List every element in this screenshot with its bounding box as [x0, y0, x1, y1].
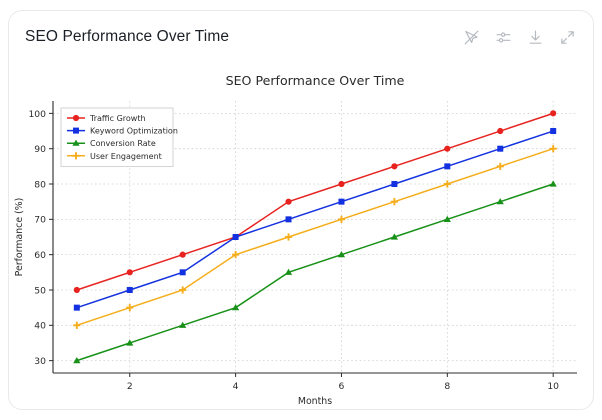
y-tick-label: 60 [34, 250, 46, 261]
line-chart: SEO Performance Over Time304050607080901… [9, 63, 595, 411]
download-icon[interactable] [525, 27, 545, 47]
series-4 [73, 145, 557, 329]
legend-item-label: Traffic Growth [89, 114, 146, 123]
x-tick-label: 10 [547, 381, 559, 392]
pointer-disabled-icon[interactable] [461, 27, 481, 47]
legend-item-label: Conversion Rate [90, 139, 156, 148]
chart-legend: Traffic GrowthKeyword OptimizationConver… [61, 108, 178, 166]
y-tick-label: 30 [34, 356, 46, 367]
series-3 [73, 180, 557, 363]
x-tick-label: 4 [233, 381, 239, 392]
x-tick-label: 6 [339, 381, 345, 392]
y-tick-label: 90 [34, 144, 46, 155]
x-axis-label: Months [298, 396, 332, 407]
chart-plot-area: SEO Performance Over Time304050607080901… [9, 63, 595, 411]
y-tick-label: 80 [34, 179, 46, 190]
legend-item-label: User Engagement [90, 152, 162, 161]
y-tick-label: 40 [34, 321, 46, 332]
expand-icon[interactable] [557, 27, 577, 47]
y-tick-label: 100 [28, 109, 46, 120]
y-tick-label: 70 [34, 215, 46, 226]
legend-item-label: Keyword Optimization [90, 127, 178, 136]
y-axis-label: Performance (%) [14, 198, 25, 277]
chart-title: SEO Performance Over Time [226, 73, 405, 88]
chart-card: SEO Performance Over Time [8, 10, 594, 410]
card-header: SEO Performance Over Time [9, 11, 593, 63]
x-tick-label: 8 [444, 381, 450, 392]
x-tick-label: 2 [127, 381, 133, 392]
chart-toolbar [461, 27, 577, 47]
page-title: SEO Performance Over Time [25, 28, 229, 46]
sliders-icon[interactable] [493, 27, 513, 47]
y-tick-label: 50 [34, 285, 46, 296]
